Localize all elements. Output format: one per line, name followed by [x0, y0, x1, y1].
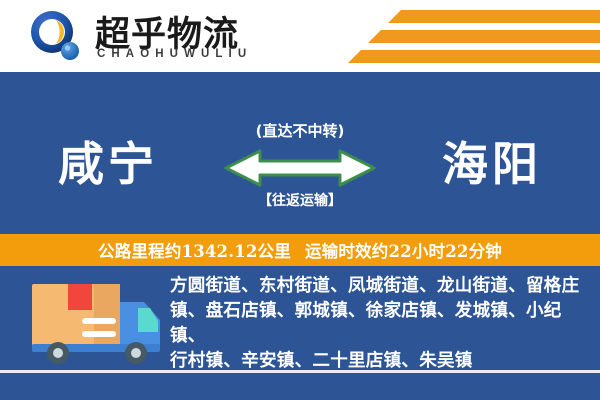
info-bar: 公路里程约1342.12公里 运输时效约22小时22分钟 — [0, 234, 600, 266]
duration-text: 运输时效约22小时22分钟 — [305, 238, 502, 262]
distance-text: 公路里程约1342.12公里 — [98, 238, 291, 262]
logistics-route-banner: 超乎物流 CHAOHUWULIU 咸宁 (直达不中转) 【往返运输】 海阳 公路… — [0, 0, 600, 400]
coverage-line: 镇、盘石店镇、郭城镇、徐家店镇、发城镇、小纪镇、 — [170, 299, 586, 349]
coverage-town-list: 方圆街道、东村街道、凤城街道、龙山街道、留格庄 镇、盘石店镇、郭城镇、徐家店镇、… — [170, 274, 586, 374]
double-headed-arrow-icon — [220, 148, 380, 188]
stripe-top — [388, 10, 600, 23]
three-orange-stripes-icon — [340, 10, 600, 66]
destination-city: 海阳 — [442, 128, 542, 194]
delivery-truck-icon — [26, 274, 168, 366]
footer-divider — [0, 370, 600, 373]
route-section: 咸宁 (直达不中转) 【往返运输】 海阳 — [0, 72, 600, 234]
header-bar: 超乎物流 CHAOHUWULIU — [0, 0, 600, 72]
brand-name-en: CHAOHUWULIU — [97, 48, 252, 60]
coverage-section: 方圆街道、东村街道、凤城街道、龙山街道、留格庄 镇、盘石店镇、郭城镇、徐家店镇、… — [0, 266, 600, 400]
stripe-bottom — [348, 50, 600, 63]
brand-logo — [30, 8, 90, 66]
circle-crescent-logo-icon — [30, 10, 82, 62]
coverage-line: 方圆街道、东村街道、凤城街道、龙山街道、留格庄 — [170, 274, 586, 299]
stripe-middle — [368, 30, 600, 43]
